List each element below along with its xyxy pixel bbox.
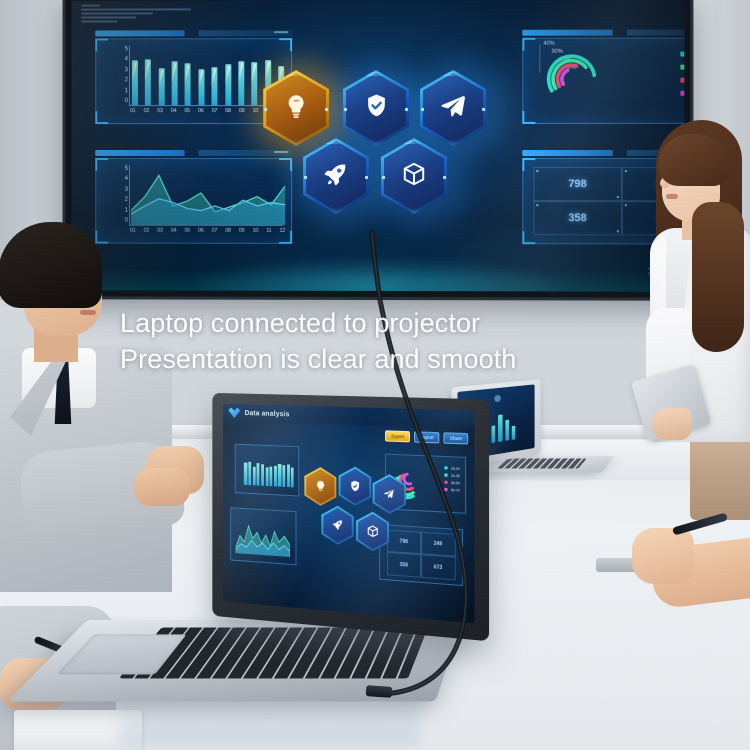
donut-chart-panel[interactable]: 40% 30% 25% 5% 18-2424-3535-5050-70 — [522, 37, 684, 124]
bar — [225, 65, 231, 106]
cube-icon — [366, 525, 379, 539]
laptop-hexagon-cluster — [304, 459, 379, 570]
legend-item: 18-24 — [680, 51, 684, 57]
x-tick: 03 — [157, 108, 163, 114]
bar — [172, 61, 178, 105]
laptop-table-cell: 358 — [387, 552, 421, 577]
bar — [278, 464, 281, 487]
legend-item: 24-35 — [680, 64, 684, 70]
legend-swatch — [680, 77, 684, 82]
hexagon-icon-cluster — [262, 52, 490, 237]
shield-check-icon — [363, 92, 390, 124]
cable-plug — [366, 685, 393, 698]
donut-arc — [557, 65, 576, 86]
legend-item: 24-35 — [445, 473, 460, 478]
x-tick: 01 — [130, 108, 136, 114]
laptop-titlebar: Data analysis — [223, 404, 474, 429]
pen-right — [672, 512, 728, 535]
shield-check-icon — [349, 479, 362, 493]
legend-label: 50-70 — [451, 488, 460, 493]
lightbulb-icon — [283, 93, 309, 124]
bar — [248, 462, 251, 486]
bar — [498, 415, 502, 442]
laptop-shield-hexagon[interactable] — [339, 466, 372, 507]
bar — [291, 467, 294, 488]
legend-swatch — [680, 51, 684, 56]
bar — [270, 467, 273, 487]
bar — [283, 465, 286, 487]
bar — [132, 60, 138, 105]
laptop-table-cell: 673 — [421, 555, 456, 581]
legend-label: 35-50 — [451, 481, 460, 486]
bar — [492, 426, 496, 443]
laptop-table-cell: 249 — [421, 532, 456, 557]
panel-tab — [95, 30, 184, 36]
bar — [287, 464, 290, 488]
y-tick: 2 — [125, 77, 128, 83]
legend-swatch — [445, 488, 448, 491]
legend-swatch — [445, 481, 448, 484]
y-tick: 5 — [125, 166, 128, 172]
laptop-send-hexagon[interactable] — [373, 474, 407, 515]
x-tick: 05 — [184, 108, 190, 114]
laptop-lid: Data analysis Export Report Share — [212, 393, 489, 641]
bar — [274, 466, 277, 487]
laptop-table-panel[interactable]: 798 249 358 673 — [380, 524, 463, 586]
export-button[interactable]: Export — [385, 430, 410, 442]
x-tick: 09 — [239, 108, 245, 114]
laptop-app-title: Data analysis — [245, 410, 290, 418]
legend-swatch — [680, 90, 684, 95]
x-tick: 04 — [171, 108, 177, 114]
legend-item: 50-70 — [445, 488, 460, 493]
bar — [253, 467, 256, 486]
y-tick: 1 — [125, 88, 128, 94]
bar — [145, 59, 151, 105]
legend-swatch — [680, 64, 684, 69]
laptop-lightbulb-hexagon[interactable] — [304, 466, 336, 506]
paper-plane-icon — [382, 487, 396, 502]
table-reflection — [120, 690, 420, 746]
bar — [198, 69, 204, 105]
screen-glow — [181, 257, 573, 292]
y-tick: 5 — [125, 46, 128, 52]
y-tick: 3 — [125, 187, 128, 193]
bar — [238, 61, 244, 105]
legend-item: 50-70 — [680, 90, 684, 96]
screen-corner-text — [81, 4, 200, 24]
share-button[interactable]: Share — [444, 432, 468, 444]
donut-arc — [562, 70, 568, 84]
headline-line-2: Presentation is clear and smooth — [120, 342, 660, 378]
laptop-screen: Data analysis Export Report Share — [223, 404, 474, 624]
area-chart-y-axis: 5 4 3 2 1 0 — [110, 166, 128, 224]
legend-label: 24-35 — [451, 473, 460, 478]
bar — [244, 462, 247, 485]
bar — [512, 426, 516, 440]
donut-chart-legend: 18-2424-3535-5050-70 — [680, 51, 684, 103]
donut-value-label: 40% — [543, 41, 554, 47]
headline-overlay: Laptop connected to projector Presentati… — [120, 306, 660, 378]
y-tick: 4 — [125, 176, 128, 182]
laptop-rocket-hexagon[interactable] — [321, 505, 354, 546]
bar — [257, 463, 260, 486]
bar — [261, 465, 264, 487]
paper-plane-icon — [439, 91, 467, 124]
cube-icon — [401, 161, 427, 192]
x-tick: 06 — [198, 108, 204, 114]
bar — [505, 419, 509, 441]
attendee-foreground-right — [612, 500, 750, 650]
laptop-cube-hexagon[interactable] — [356, 511, 389, 552]
bar — [265, 468, 268, 487]
bar — [158, 68, 164, 105]
y-tick: 1 — [125, 207, 128, 213]
laptop-donut-panel[interactable]: 18-2424-3535-5050-70 — [385, 454, 466, 515]
rocket-icon — [323, 160, 349, 191]
bar-chart-y-axis: 5 4 3 2 1 0 — [110, 46, 128, 104]
legend-item: 35-50 — [445, 480, 460, 485]
scene-photo: 5 4 3 2 1 0 010203040506070809101112 5 4 — [0, 0, 750, 750]
headline-line-1: Laptop connected to projector — [120, 306, 660, 342]
laptop-area-chart-panel[interactable] — [230, 507, 296, 565]
y-tick: 2 — [125, 197, 128, 203]
legend-item: 18-24 — [445, 466, 460, 471]
rocket-icon — [331, 518, 344, 532]
y-tick: 3 — [125, 67, 128, 73]
x-tick: 02 — [144, 108, 150, 114]
report-button[interactable]: Report — [414, 431, 440, 443]
donut-chart-arcs — [541, 53, 603, 111]
x-tick: 08 — [225, 108, 231, 114]
panel-tab-secondary — [198, 30, 292, 36]
legend-swatch — [445, 474, 448, 477]
woman-presenter — [636, 112, 750, 442]
bar — [212, 67, 218, 105]
legend-item: 35-50 — [680, 77, 684, 83]
laptop-bar-chart-panel[interactable] — [235, 444, 299, 497]
lightbulb-icon — [314, 480, 326, 494]
laptop-table-cell: 798 — [387, 530, 421, 555]
table-cell: 798 — [533, 167, 622, 201]
y-tick: 4 — [125, 57, 128, 63]
app-logo-icon — [228, 407, 240, 418]
main-laptop[interactable]: Data analysis Export Report Share — [50, 396, 480, 732]
laptop-toolbar: Export Report Share — [385, 430, 468, 444]
x-tick: 07 — [212, 108, 218, 114]
legend-swatch — [445, 466, 448, 469]
y-tick: 0 — [125, 98, 128, 104]
bar — [185, 63, 191, 105]
legend-label: 18-24 — [451, 466, 460, 471]
